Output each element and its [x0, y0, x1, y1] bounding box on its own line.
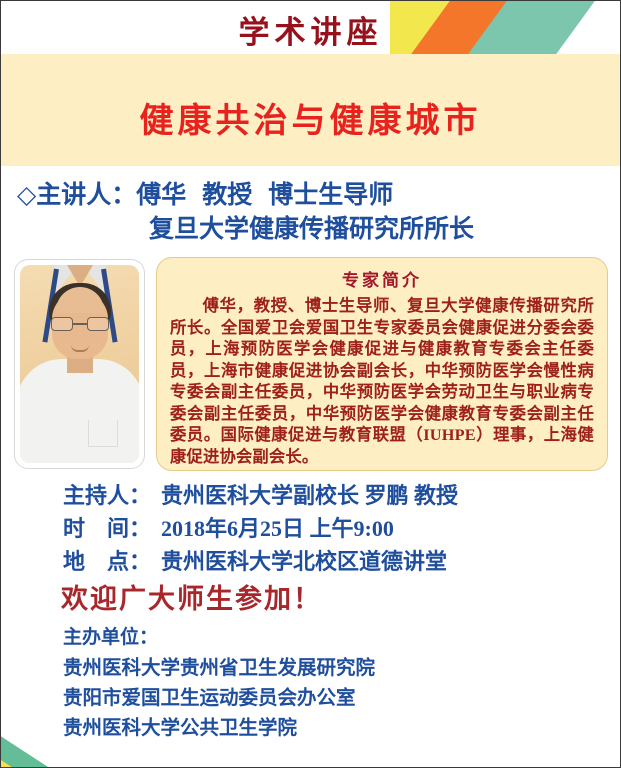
lens-left-icon [51, 317, 73, 331]
speaker-title: 教授 [202, 182, 252, 209]
expert-bio-box: 专家简介 傅华，教授、博士生导师、复旦大学健康传播研究所所长。全国爱卫会爱国卫生… [156, 257, 608, 471]
glasses-icon [51, 317, 109, 332]
detail-label-location: 地 点： [63, 545, 151, 578]
bio-text: 傅华，教授、博士生导师、复旦大学健康传播研究所所长。全国爱卫会爱国卫生专家委员会… [170, 295, 594, 467]
bio-title: 专家简介 [170, 266, 594, 291]
organizer-item: 贵阳市爱国卫生运动委员会办公室 [63, 684, 375, 714]
speaker-line-primary: ◇主讲人：傅华教授博士生导师 [17, 179, 604, 213]
organizers-list: 贵州医科大学贵州省卫生发展研究院 贵阳市爱国卫生运动委员会办公室 贵州医科大学公… [63, 654, 375, 744]
speaker-advisor: 博士生导师 [268, 182, 393, 209]
detail-row-time: 时 间：2018年6月25日 上午9:00 [63, 512, 604, 545]
detail-row-location: 地 点：贵州医科大学北校区道德讲堂 [63, 545, 604, 578]
speaker-block: ◇主讲人：傅华教授博士生导师 复旦大学健康传播研究所所长 [17, 179, 604, 247]
shirt-pocket-shape [88, 420, 118, 447]
lens-right-icon [87, 317, 109, 331]
lecture-poster: 学术讲座 健康共治与健康城市 ◇主讲人：傅华教授博士生导师 复旦大学健康传播研究… [0, 0, 621, 768]
speaker-affiliation: 复旦大学健康传播研究所所长 [17, 213, 604, 247]
organizer-item: 贵州医科大学贵州省卫生发展研究院 [63, 654, 375, 684]
detail-row-host: 主持人：贵州医科大学副校长 罗鹏 教授 [63, 479, 604, 512]
welcome-message: 欢迎广大师生参加！ [61, 577, 322, 616]
organizers-label: 主办单位： [63, 622, 158, 649]
detail-value-location: 贵州医科大学北校区道德讲堂 [161, 549, 447, 574]
detail-label-host: 主持人： [63, 479, 151, 512]
stripe-orange-icon [1, 747, 156, 767]
shirt-shape [20, 359, 139, 463]
lecture-type-heading: 学术讲座 [1, 7, 620, 52]
speaker-label: 主讲人： [36, 182, 136, 209]
page-title: 健康共治与健康城市 [1, 93, 620, 142]
glasses-bridge-icon [73, 323, 87, 325]
portrait-image [20, 265, 139, 463]
detail-label-time: 时 间： [63, 512, 151, 545]
speaker-name: 傅华 [136, 182, 186, 209]
event-details: 主持人：贵州医科大学副校长 罗鹏 教授 时 间：2018年6月25日 上午9:0… [63, 479, 604, 578]
speaker-photo [14, 259, 145, 469]
diamond-bullet-icon: ◇ [17, 182, 36, 209]
detail-value-time: 2018年6月25日 上午9:00 [161, 516, 394, 541]
organizer-item: 贵州医科大学公共卫生学院 [63, 714, 375, 744]
detail-value-host: 贵州医科大学副校长 罗鹏 教授 [161, 483, 458, 508]
